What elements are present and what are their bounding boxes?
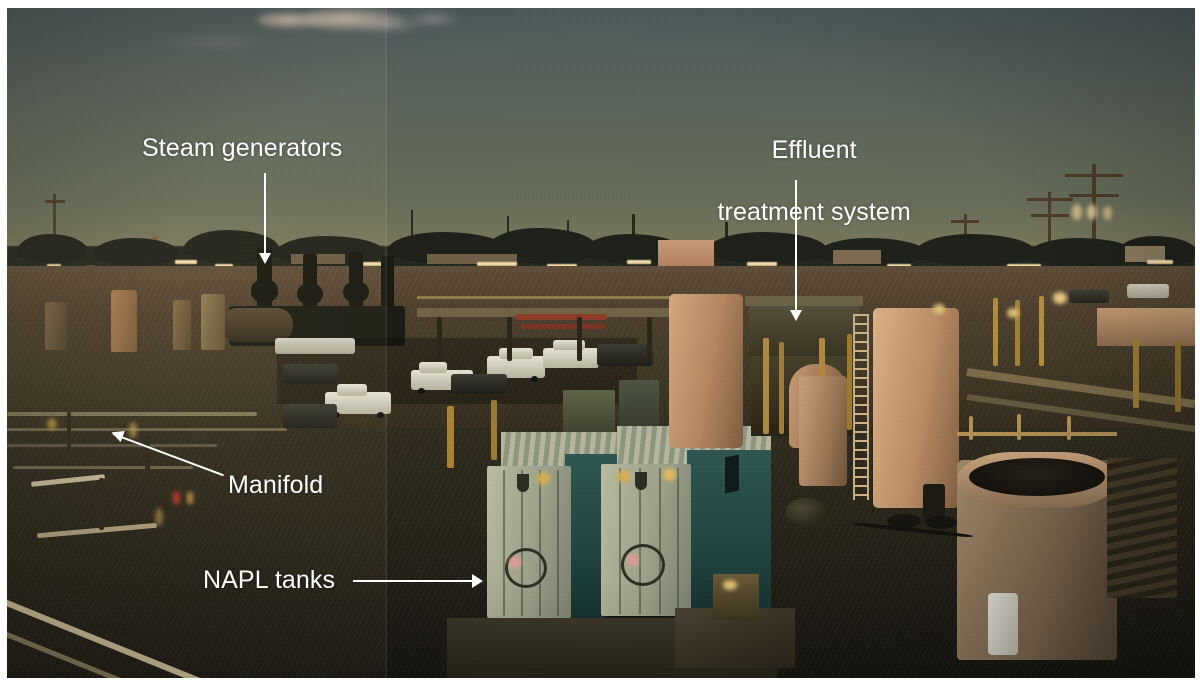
process-light [1053, 292, 1067, 304]
napl-rib [659, 468, 661, 614]
suv-white [543, 348, 599, 368]
site-photograph: Steam generators Effluent treatment syst… [7, 8, 1195, 678]
equipment-light [723, 580, 737, 590]
utility-pole-crossarm [951, 220, 979, 223]
storage-tank-small [799, 376, 847, 486]
napl-manway [505, 548, 547, 588]
white-poly-drum [988, 593, 1018, 655]
small-equipment-box [713, 574, 759, 620]
napl-fitting-glow [663, 468, 676, 481]
transformer-glow [1072, 204, 1082, 220]
tank-rail-post [969, 416, 973, 440]
effluent-piping [779, 342, 784, 434]
napl-indicator-light [627, 554, 639, 566]
tank-ladder-rail [853, 314, 855, 500]
walkway-handrail [417, 296, 687, 299]
vertical-silo [111, 290, 137, 352]
distant-building [291, 254, 345, 264]
distant-light [175, 260, 197, 264]
vertical-silo [173, 300, 191, 350]
sedan-dark [283, 364, 339, 384]
napl-rib [539, 470, 541, 616]
annotation-arrow-steam-generators [264, 173, 266, 255]
support-column [647, 317, 652, 361]
annotation-label-manifold: Manifold [228, 470, 323, 501]
napl-rib [619, 468, 621, 614]
napl-rib [557, 470, 559, 616]
suv-white-roof [499, 348, 533, 359]
support-column [437, 317, 442, 361]
wheel [531, 376, 538, 382]
pipe-highlight [47, 418, 57, 430]
process-light [1007, 308, 1019, 318]
vertical-silo [45, 302, 67, 350]
valve-marker-amber [187, 492, 193, 504]
napl-nozzle [635, 472, 647, 490]
tree [915, 234, 1035, 266]
annotation-line-1: Effluent [772, 136, 857, 164]
screenshot-root: Steam generators Effluent treatment syst… [0, 0, 1200, 684]
cloud-4 [405, 12, 461, 26]
tire-stack [925, 516, 957, 529]
storage-tank-tall [873, 308, 959, 508]
steam-generator-drum [221, 308, 293, 342]
wheel [418, 388, 425, 394]
tree [93, 238, 179, 266]
manifold-riser [67, 412, 71, 452]
distant-light [1147, 260, 1173, 264]
right-column [1133, 338, 1139, 408]
process-pipe [1039, 296, 1044, 366]
support-column [507, 317, 512, 361]
transformer-glow [1087, 204, 1097, 220]
napl-indicator-light [509, 556, 521, 568]
open-top-tank-interior [969, 458, 1105, 496]
steam-generator-stack [297, 284, 323, 304]
effluent-piping [819, 338, 825, 378]
utility-pole-crossarm [1069, 194, 1119, 197]
pickup-truck-cab [419, 362, 447, 373]
tree [17, 234, 87, 264]
tank-ladder-rail [867, 314, 869, 500]
right-column [1175, 342, 1181, 412]
transformer-glow [1103, 206, 1112, 220]
stair-tower [1107, 458, 1177, 598]
effluent-piping [847, 334, 852, 430]
annotation-label-effluent-treatment-system: Effluent treatment system [653, 104, 933, 259]
red-pipe-truss [521, 324, 605, 329]
yellow-handrail [447, 406, 454, 468]
panorama-seam [385, 8, 387, 678]
napl-fitting-glow [617, 470, 630, 483]
annotation-label-steam-generators: Steam generators [142, 133, 342, 164]
napl-access-hatch [725, 455, 739, 494]
sedan-dark [283, 404, 337, 428]
pickup-truck-white [275, 338, 355, 354]
support-column [577, 317, 582, 361]
tank-walkway-rail [957, 432, 1117, 436]
truck-white-far [1127, 284, 1169, 298]
napl-manway [621, 544, 665, 586]
pipe-highlight [129, 422, 137, 438]
truck-dark [597, 344, 653, 366]
utility-pole-crossarm [1027, 198, 1073, 201]
manifold-riser [99, 478, 104, 530]
pickup-truck-cab [337, 384, 367, 396]
cloud-5 [157, 34, 277, 50]
tank-rail-post [1067, 416, 1071, 440]
annotation-arrow-effluent-treatment-system [795, 180, 797, 312]
annotation-arrow-napl-tanks [353, 580, 473, 582]
napl-rib [503, 470, 505, 616]
effluent-skid-roof [745, 296, 863, 306]
utility-pole-crossarm [1031, 214, 1069, 217]
annotation-line-2: treatment system [717, 198, 910, 226]
pipe-rack [7, 412, 257, 416]
manifold-riser [145, 436, 150, 484]
tank-rail-post [1017, 414, 1021, 440]
annotation-label-napl-tanks: NAPL tanks [203, 565, 335, 596]
process-light [933, 304, 945, 314]
truck-dark-far [1069, 290, 1109, 303]
vertical-silo [201, 294, 225, 350]
steam-generator-stack [251, 280, 278, 302]
pipe-rack [7, 444, 217, 447]
wheel [377, 412, 384, 418]
steam-generator-stack [343, 282, 369, 302]
process-pipe [993, 298, 998, 366]
napl-nozzle [517, 474, 529, 492]
effluent-drum [785, 498, 827, 526]
utility-pole-crossarm [45, 200, 65, 203]
effluent-piping [763, 338, 769, 434]
storage-tank-center [669, 294, 743, 448]
pipe-rack [13, 466, 193, 469]
utility-pole-crossarm [1065, 174, 1123, 177]
right-walkway [1097, 308, 1195, 346]
pipe-highlight [155, 508, 163, 526]
distant-light [627, 260, 651, 264]
sedan-dark [451, 374, 507, 394]
napl-fitting-glow [537, 472, 550, 485]
napl-rib [677, 468, 679, 614]
valve-marker-red [173, 492, 180, 504]
red-pipe-truss [515, 314, 607, 320]
